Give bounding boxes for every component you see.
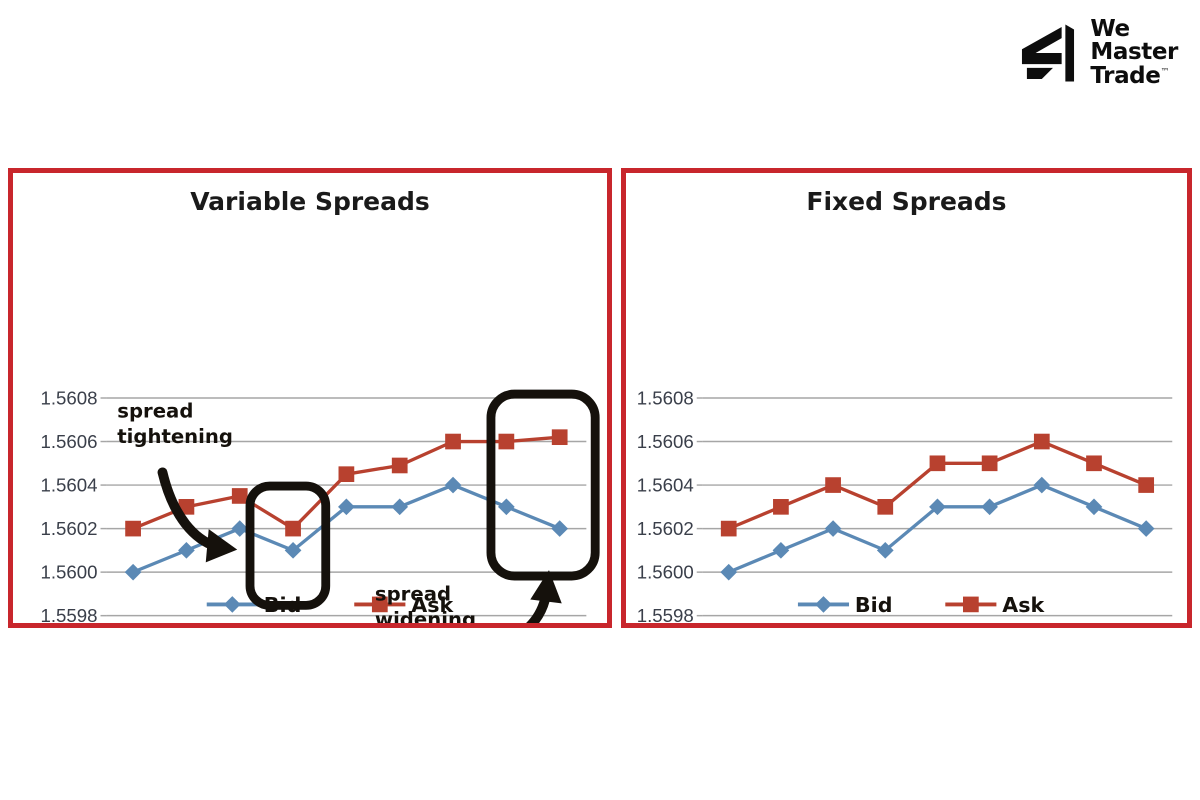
data-point-marker [232, 488, 248, 504]
annotation-tightening-line-1: spread [117, 400, 193, 423]
data-point-marker [1138, 520, 1155, 537]
arrow-mark-icon [1017, 22, 1079, 84]
annotation-widening-line-1: spread [375, 583, 451, 606]
data-point-marker [498, 499, 515, 516]
y-tick-label: 1.5606 [637, 431, 694, 452]
data-point-marker [930, 455, 946, 471]
y-tick-label: 1.5598 [637, 605, 694, 623]
y-tick-label: 1.5602 [637, 518, 694, 539]
brand-line-2: Master [1090, 41, 1178, 64]
brand-line-3-wrap: Trade™ [1090, 65, 1178, 88]
data-point-marker [392, 458, 408, 474]
data-point-marker [721, 521, 737, 537]
data-point-marker [773, 499, 789, 515]
data-point-marker [285, 521, 301, 537]
y-axis-tick-labels: 1.56081.56061.56041.56021.56001.55981.55… [637, 387, 694, 623]
y-tick-label: 1.5600 [40, 562, 97, 583]
chart-variable-spreads: 1.56081.56061.56041.56021.56001.55981.55… [13, 173, 607, 623]
curved-arrow-up-right-icon [489, 600, 545, 623]
data-point-marker [720, 564, 737, 581]
data-point-marker [551, 520, 568, 537]
data-point-marker [1086, 499, 1103, 516]
legend-swatch-marker [815, 596, 832, 613]
legend-swatch-marker [224, 596, 241, 613]
y-tick-label: 1.5608 [637, 387, 694, 408]
y-tick-label: 1.5604 [40, 474, 97, 495]
data-point-marker [125, 521, 141, 537]
trademark-symbol: ™ [1160, 67, 1169, 77]
y-tick-label: 1.5600 [637, 562, 694, 583]
data-point-marker [825, 520, 842, 537]
spreads-comparison-figure: Variable Spreads 1.56081.56061.56041.560… [8, 168, 1192, 628]
y-tick-label: 1.5598 [40, 605, 97, 623]
data-point-marker [825, 477, 841, 493]
arrowhead-tightening-icon [206, 529, 237, 562]
data-point-marker [391, 499, 408, 516]
y-tick-label: 1.5608 [40, 387, 97, 408]
data-point-marker [981, 499, 998, 516]
data-point-marker [125, 564, 142, 581]
data-point-marker [1034, 434, 1050, 450]
data-point-marker [1138, 477, 1154, 493]
data-point-marker [178, 542, 195, 559]
chart-fixed-spreads: 1.56081.56061.56041.56021.56001.55981.55… [626, 173, 1187, 623]
highlight-box-tightening [250, 486, 326, 605]
panel-variable-spreads: Variable Spreads 1.56081.56061.56041.560… [8, 168, 612, 628]
legend-swatch-marker [963, 597, 979, 613]
legend-label-ask: Ask [1002, 593, 1045, 617]
brand-wordmark: We Master Trade™ [1090, 18, 1178, 88]
y-tick-label: 1.5604 [637, 474, 694, 495]
data-point-marker [877, 499, 893, 515]
brand-logo: We Master Trade™ [1017, 18, 1178, 88]
panel-fixed-spreads: Fixed Spreads 1.56081.56061.56041.56021.… [621, 168, 1192, 628]
y-tick-label: 1.5606 [40, 431, 97, 452]
annotation-widening-line-2: widening [375, 608, 476, 623]
data-point-marker [773, 542, 790, 559]
data-point-marker [982, 455, 998, 471]
y-axis-tick-labels: 1.56081.56061.56041.56021.56001.55981.55… [40, 387, 97, 623]
y-tick-label: 1.5602 [40, 518, 97, 539]
data-point-marker [339, 466, 355, 482]
legend-label-bid: Bid [855, 593, 893, 617]
data-point-marker [445, 434, 461, 450]
annotation-tightening-line-2: tightening [117, 425, 233, 448]
brand-line-1: We [1090, 18, 1178, 41]
data-point-marker [552, 429, 568, 445]
data-point-marker [1086, 455, 1102, 471]
brand-line-3: Trade [1090, 63, 1160, 89]
chart-legend: BidAsk [798, 593, 1046, 617]
data-point-marker [445, 477, 462, 494]
data-point-marker [498, 434, 514, 450]
data-point-marker [1033, 477, 1050, 494]
